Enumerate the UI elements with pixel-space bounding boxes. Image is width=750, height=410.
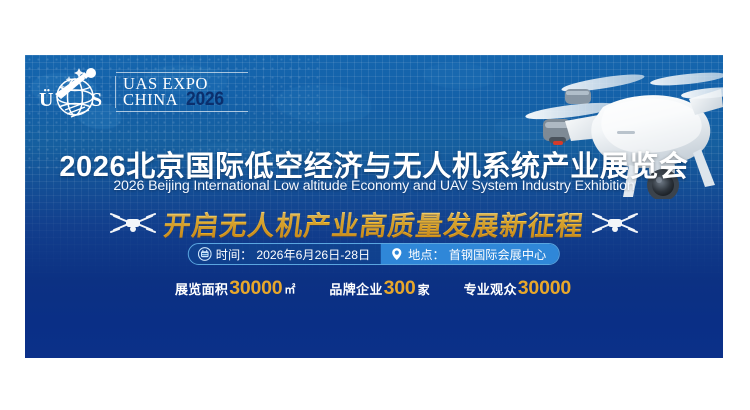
stat-item: 品牌企业 300 家 (329, 277, 429, 300)
stat-item: 展览面积 30000 ㎡ (175, 277, 295, 300)
event-place: 地点： 首钢国际会展中心 (381, 244, 559, 264)
event-place-value: 首钢国际会展中心 (449, 245, 547, 263)
location-pin-icon (390, 247, 404, 261)
stat-number: 30000 (229, 277, 282, 300)
event-time-value: 2026年6月26日-28日 (256, 245, 370, 263)
event-info-bar: 时间： 2026年6月26日-28日 地点： 首钢国际会展中心 (188, 243, 560, 265)
logo-wordmark: UAS EXPO CHINA 2026 (115, 76, 227, 108)
stat-label: 展览面积 (175, 279, 228, 298)
stat-number: 30000 (518, 277, 571, 300)
slogan-text: 开启无人机产业高质量发展新征程 (162, 204, 587, 243)
stat-number: 300 (384, 277, 416, 300)
globe-satellite-dish-icon: Ü S (35, 64, 113, 120)
page-subtitle: 2026 Beijing International Low altitude … (25, 178, 723, 194)
slogan-row: 开启无人机产业高质量发展新征程 (25, 203, 723, 243)
logo-line-2: CHINA (123, 92, 178, 108)
stat-label: 品牌企业 (329, 279, 382, 298)
drone-icon (110, 210, 156, 236)
event-time: 时间： 2026年6月26日-28日 (189, 244, 381, 264)
stats-row: 展览面积 30000 ㎡ 品牌企业 300 家 专业观众 30000 (25, 277, 723, 300)
drone-icon (592, 210, 638, 236)
logo-year: 2026 (186, 92, 224, 108)
event-banner: Ü S UAS EXPO CHINA 2026 (25, 55, 723, 358)
stat-unit: ㎡ (284, 281, 295, 297)
event-place-label: 地点： (408, 245, 445, 263)
stat-label: 专业观众 (464, 279, 517, 298)
calendar-icon (198, 247, 212, 261)
svg-text:Ü: Ü (39, 88, 53, 111)
svg-text:S: S (91, 89, 102, 111)
stat-unit: 家 (418, 281, 430, 298)
event-time-label: 时间： (216, 245, 253, 263)
logo-lockup: Ü S UAS EXPO CHINA 2026 (35, 63, 257, 121)
stat-item: 专业观众 30000 (464, 277, 573, 300)
